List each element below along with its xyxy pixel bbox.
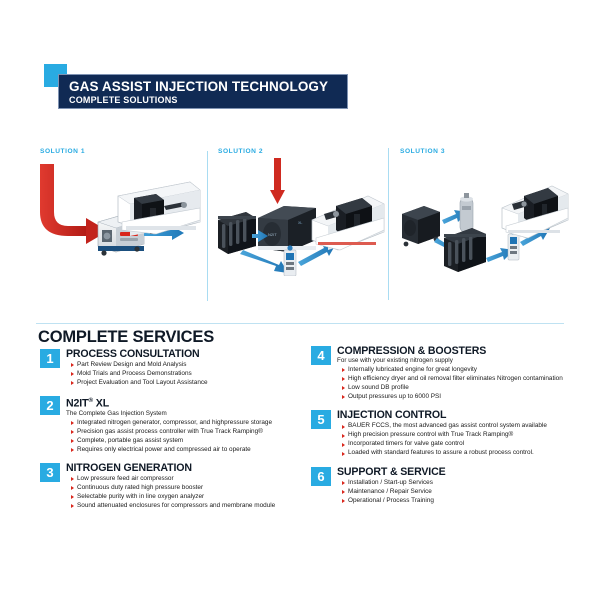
solution-3-label: SOLUTION 3 — [400, 148, 445, 155]
bullet: High precision pressure control with Tru… — [342, 431, 589, 439]
solution-2-label: SOLUTION 2 — [218, 148, 263, 155]
service-badge-4: 4 — [311, 346, 331, 365]
solutions-band: SOLUTION 1 SOLUTION 2 SOLUTION 3 — [0, 120, 600, 310]
service-bullets-1: Part Review Design and Mold Analysis Mol… — [71, 361, 312, 387]
bullet: Selectable purity with in line oxygen an… — [71, 493, 312, 501]
service-heading-3: NITROGEN GENERATION — [66, 462, 312, 474]
nitrogen-storage-rack — [218, 212, 256, 254]
solution-divider-2 — [388, 148, 389, 300]
service-bullets-6: Installation / Start-up Services Mainten… — [342, 479, 589, 505]
service-heading-5: INJECTION CONTROL — [337, 409, 589, 421]
bullet: Maintenance / Repair Service — [342, 488, 589, 496]
service-bullets-5: BAUER FCCS, the most advanced gas assist… — [342, 422, 589, 457]
nitrogen-generator-cabinet: N2IT XL — [258, 206, 316, 252]
service-badge-3: 3 — [40, 463, 60, 482]
service-badge-1: 1 — [40, 349, 60, 368]
service-badge-2: 2 — [40, 396, 60, 415]
bullet: Sound attenuated enclosures for compress… — [71, 502, 312, 510]
service-bullets-3: Low pressure feed air compressor Continu… — [71, 475, 312, 510]
bullet: Part Review Design and Mold Analysis — [71, 361, 312, 369]
bullet: Low pressure feed air compressor — [71, 475, 312, 483]
injection-press — [118, 182, 200, 236]
service-badge-5: 5 — [311, 410, 331, 429]
page-title: GAS ASSIST INJECTION TECHNOLOGY — [69, 79, 347, 94]
feed-air-compressor — [402, 206, 440, 246]
svg-text:N2IT: N2IT — [268, 232, 277, 237]
service-heading-2-main: N2IT — [66, 398, 88, 410]
services-left-column: 1 PROCESS CONSULTATION Part Review Desig… — [40, 348, 312, 519]
bullet: Loaded with standard features to assure … — [342, 449, 589, 457]
services-title: COMPLETE SERVICES — [38, 328, 214, 347]
solution-1-illustration — [34, 160, 204, 275]
bullet: Project Evaluation and Tool Layout Assis… — [71, 379, 312, 387]
service-item-3: 3 NITROGEN GENERATION Low pressure feed … — [40, 462, 312, 510]
service-heading-2: N2IT® XL — [66, 395, 312, 410]
injection-press — [312, 196, 384, 250]
header: GAS ASSIST INJECTION TECHNOLOGY COMPLETE… — [0, 0, 600, 120]
services-right-column: 4 COMPRESSION & BOOSTERS For use with yo… — [311, 345, 589, 513]
nitrogen-storage-rack — [444, 228, 486, 272]
injection-press — [502, 186, 568, 238]
bullet: Output pressures up to 6000 PSI — [342, 393, 589, 401]
bullet: Precision gas assist process controller … — [71, 428, 312, 436]
service-subheading-2: The Complete Gas Injection System — [66, 410, 312, 418]
service-subheading-4: For use with your existing nitrogen supp… — [337, 357, 589, 365]
service-heading-2-tail: XL — [93, 398, 109, 410]
bullet: High efficiency dryer and oil removal fi… — [342, 375, 589, 383]
solution-divider-1 — [207, 151, 208, 301]
service-item-4: 4 COMPRESSION & BOOSTERS For use with yo… — [311, 345, 589, 401]
solution-1-label: SOLUTION 1 — [40, 148, 85, 155]
service-bullets-2: Integrated nitrogen generator, compresso… — [71, 419, 312, 454]
service-bullets-4: Internally lubricated engine for great l… — [342, 366, 589, 401]
bullet: Requires only electrical power and compr… — [71, 446, 312, 454]
service-badge-6: 6 — [311, 467, 331, 486]
solution-3-illustration — [398, 162, 570, 276]
solution-2-illustration: N2IT XL — [212, 158, 387, 276]
services-divider-rule — [36, 323, 564, 324]
service-heading-4: COMPRESSION & BOOSTERS — [337, 345, 589, 357]
red-flow-arrow — [270, 158, 285, 204]
bullet: Complete, portable gas assist system — [71, 437, 312, 445]
bullet: BAUER FCCS, the most advanced gas assist… — [342, 422, 589, 430]
service-heading-6: SUPPORT & SERVICE — [337, 466, 589, 478]
service-heading-1: PROCESS CONSULTATION — [66, 348, 312, 360]
bullet: Low sound DB profile — [342, 384, 589, 392]
service-item-2: 2 N2IT® XL The Complete Gas Injection Sy… — [40, 395, 312, 454]
header-title-bar: GAS ASSIST INJECTION TECHNOLOGY COMPLETE… — [58, 74, 348, 109]
page-subtitle: COMPLETE SOLUTIONS — [69, 94, 347, 106]
bullet: Operational / Process Training — [342, 497, 589, 505]
bullet: Internally lubricated engine for great l… — [342, 366, 589, 374]
blue-flow-arrow-2 — [240, 250, 288, 273]
service-item-6: 6 SUPPORT & SERVICE Installation / Start… — [311, 466, 589, 505]
svg-text:XL: XL — [298, 221, 302, 225]
poster-page: GAS ASSIST INJECTION TECHNOLOGY COMPLETE… — [0, 0, 600, 600]
gas-assist-controller — [284, 245, 296, 276]
bullet: Integrated nitrogen generator, compresso… — [71, 419, 312, 427]
service-item-5: 5 INJECTION CONTROL BAUER FCCS, the most… — [311, 409, 589, 457]
bullet: Continuous duty rated high pressure boos… — [71, 484, 312, 492]
buffer-tank — [460, 193, 473, 232]
bullet: Mold Trials and Process Demonstrations — [71, 370, 312, 378]
bullet: Incorporated timers for valve gate contr… — [342, 440, 589, 448]
bullet: Installation / Start-up Services — [342, 479, 589, 487]
service-item-1: 1 PROCESS CONSULTATION Part Review Desig… — [40, 348, 312, 387]
